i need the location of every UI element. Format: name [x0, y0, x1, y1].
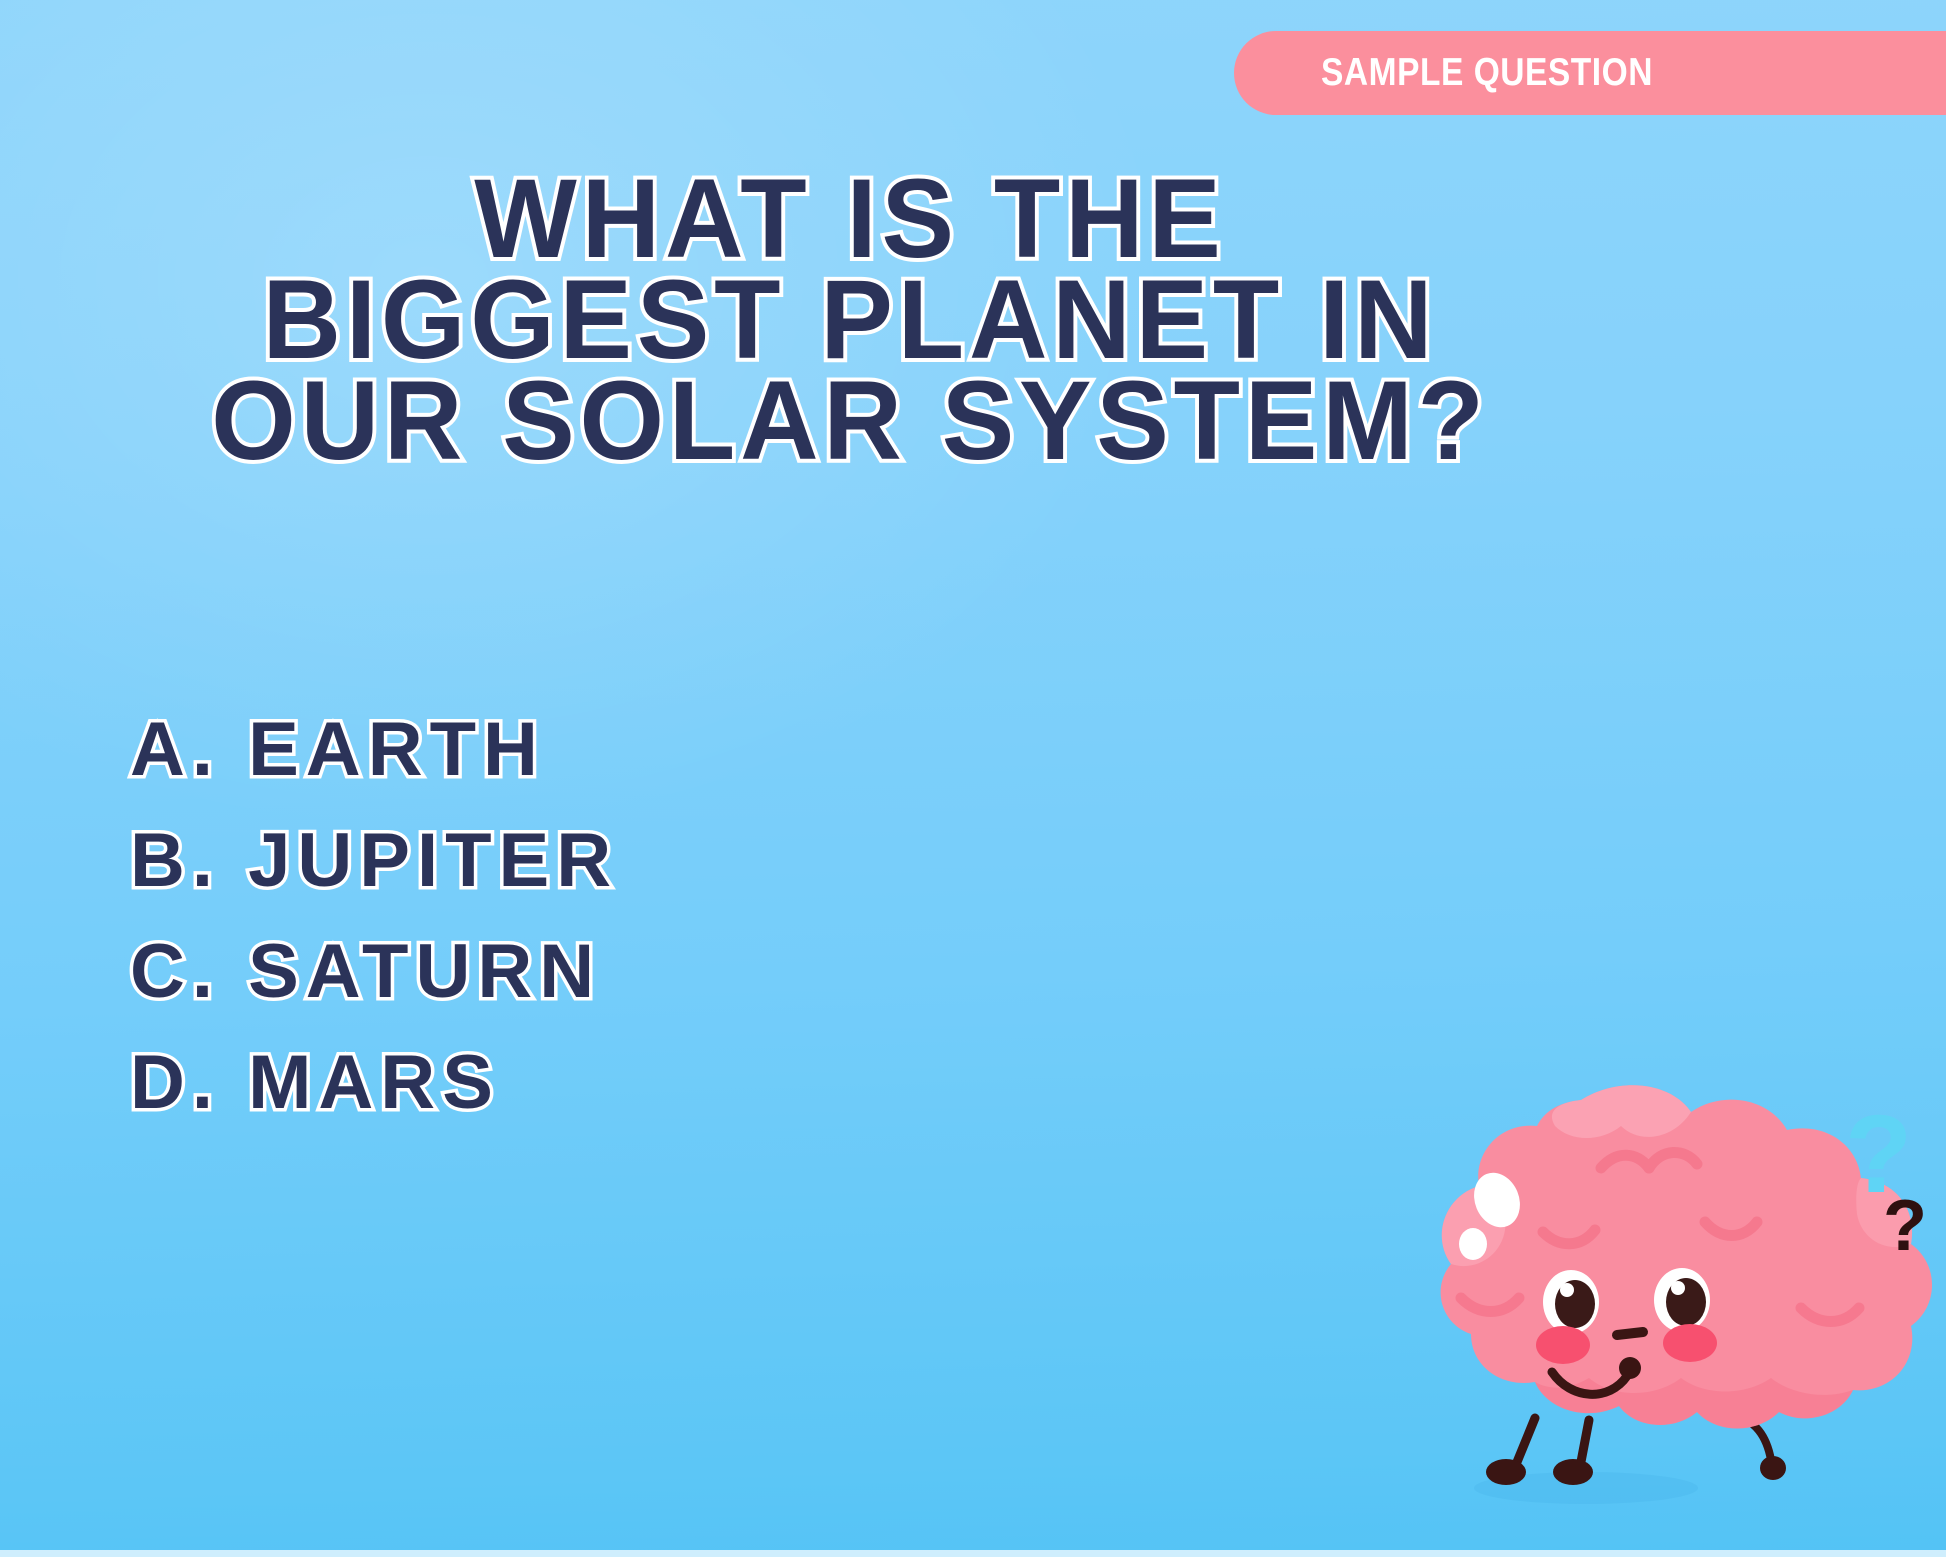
answer-option-d[interactable]: D. MARS D. MARS	[130, 1027, 618, 1138]
question-line-3-fill: OUR SOLAR SYSTEM?	[211, 370, 1489, 471]
quiz-slide: SAMPLE QUESTION WHAT IS THE WHAT IS THE …	[0, 0, 1946, 1557]
answer-option-a[interactable]: A. EARTH A. EARTH	[130, 694, 618, 805]
mascot-cheek-right	[1663, 1324, 1717, 1362]
mascot-foot-left	[1486, 1459, 1526, 1485]
question-line-2: BIGGEST PLANET IN BIGGEST PLANET IN	[26, 269, 1675, 370]
question-line-1: WHAT IS THE WHAT IS THE	[26, 168, 1675, 269]
answer-option-d-label: D. MARS	[130, 1027, 500, 1138]
answer-option-b-label: B. JUPITER	[130, 805, 618, 916]
answer-option-a-label: A. EARTH	[130, 694, 545, 805]
question-line-1-fill: WHAT IS THE	[474, 168, 1225, 269]
answer-options-list: A. EARTH A. EARTH B. JUPITER B. JUPITER …	[130, 694, 618, 1138]
thinking-brain-mascot: ? ?	[1405, 1082, 1946, 1512]
sample-question-badge-label: SAMPLE QUESTION	[1321, 51, 1653, 95]
question-title: WHAT IS THE WHAT IS THE BIGGEST PLANET I…	[0, 168, 1700, 471]
mascot-eye-glint-right	[1671, 1281, 1685, 1295]
mascot-smile-dot	[1619, 1357, 1641, 1379]
question-line-3: OUR SOLAR SYSTEM? OUR SOLAR SYSTEM?	[26, 370, 1675, 471]
answer-option-c[interactable]: C. SATURN C. SATURN	[130, 916, 618, 1027]
question-mark-small-icon: ?	[1883, 1186, 1927, 1266]
answer-option-c-label: C. SATURN	[130, 916, 601, 1027]
mascot-highlight-small	[1459, 1228, 1487, 1260]
mascot-hand-right	[1760, 1456, 1786, 1480]
bottom-edge-strip	[0, 1550, 1946, 1557]
question-line-2-fill: BIGGEST PLANET IN	[263, 269, 1438, 370]
mascot-eye-glint-left	[1560, 1283, 1574, 1297]
mascot-foot-right	[1553, 1459, 1593, 1485]
answer-option-b[interactable]: B. JUPITER B. JUPITER	[130, 805, 618, 916]
mascot-nose	[1617, 1332, 1643, 1335]
sample-question-badge: SAMPLE QUESTION	[1234, 31, 1946, 115]
mascot-cheek-left	[1536, 1326, 1590, 1364]
